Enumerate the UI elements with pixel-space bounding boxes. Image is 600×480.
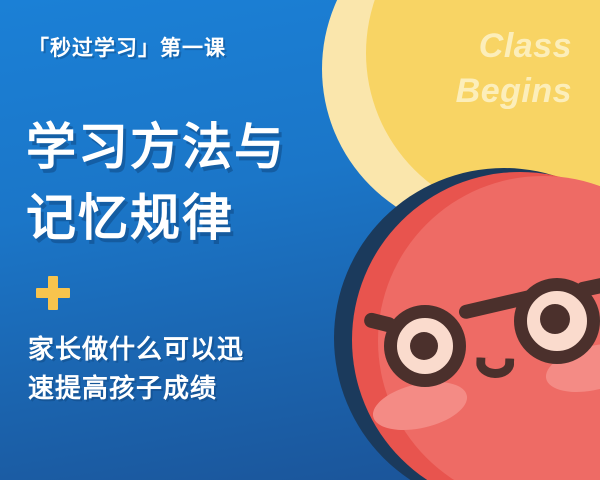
eye-pupil-left-icon	[410, 332, 438, 360]
class-begins-line-1: Class	[456, 24, 572, 69]
plus-icon	[36, 276, 70, 310]
subtitle-line-1: 家长做什么可以迅	[28, 330, 244, 369]
subtitle-text: 家长做什么可以迅 速提高孩子成绩	[28, 330, 244, 408]
eye-pupil-right-icon	[540, 304, 570, 334]
kicker-text: 「秒过学习」第一课	[28, 32, 226, 62]
subtitle-line-2: 速提高孩子成绩	[28, 369, 244, 408]
text-layer: 「秒过学习」第一课 学习方法与 记忆规律 家长做什么可以迅 速提高孩子成绩	[0, 0, 330, 480]
headline-line-1: 学习方法与	[26, 112, 286, 183]
headline-line-2: 记忆规律	[26, 183, 286, 254]
page-title: 学习方法与 记忆规律	[26, 112, 286, 254]
class-begins-badge: Class Begins	[456, 24, 572, 114]
course-poster: Class Begins 「秒过学习」第一课 学习方法与 记忆规律 家长做什么可…	[0, 0, 600, 480]
class-begins-line-2: Begins	[456, 69, 572, 114]
